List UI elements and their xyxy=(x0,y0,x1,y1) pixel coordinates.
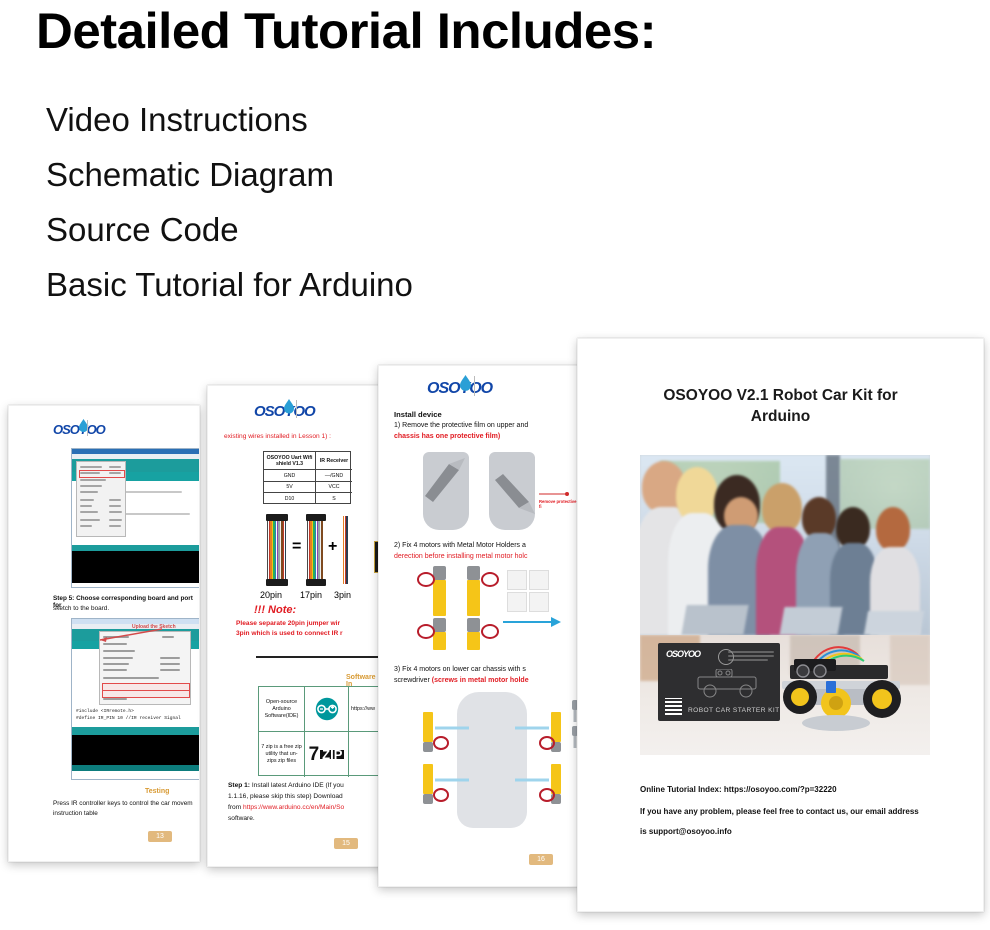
highlight-open-item xyxy=(79,470,125,478)
equals-sign: = xyxy=(292,538,301,556)
cover-title: OSOYOO V2.1 Robot Car Kit for Arduino xyxy=(602,385,959,427)
note-title: !!! Note: xyxy=(254,604,296,616)
install-step-1-note: chassis has one protective film) xyxy=(394,433,500,440)
table-cell: GND xyxy=(264,470,316,482)
motor-holder-thumb xyxy=(529,570,549,590)
cable-label-3pin: 3pin xyxy=(334,590,351,600)
callout-label: Remove protective fi xyxy=(539,499,579,509)
laptop xyxy=(780,607,843,635)
highlight-port-item xyxy=(102,690,190,698)
tutorial-cover-page[interactable]: OSOYOO V2.1 Robot Car Kit for Arduino xyxy=(577,338,984,912)
table-header-receiver: IR Receiver xyxy=(316,452,352,470)
screwdriver-word: screwdriver xyxy=(394,677,432,684)
step-1-line-4: software. xyxy=(228,815,255,822)
table-cell: —/GND xyxy=(316,470,352,482)
arduino-logo-icon xyxy=(310,697,344,721)
osoyoo-droplet-icon xyxy=(460,375,471,391)
cable-header xyxy=(266,579,288,586)
step-1-label: Step 1: xyxy=(228,782,250,789)
cable-20pin xyxy=(266,514,288,586)
product-photo: OSOYOO ROBOT CAR STARTER KIT xyxy=(640,635,930,755)
osoyoo-droplet-icon xyxy=(284,399,294,414)
step-1-text: Install latest Arduino IDE (If you xyxy=(250,782,344,789)
contact-is-label: is xyxy=(640,827,649,836)
code-line-1: #include <IRremote.h> xyxy=(76,709,134,714)
motor-holder-thumb xyxy=(507,570,527,590)
software-table: Open-source Arduino Software(IDE) https:… xyxy=(258,686,384,776)
logo-divider xyxy=(296,400,297,418)
robot-car xyxy=(770,641,920,741)
peel-film-icon xyxy=(485,452,545,530)
cable-17pin xyxy=(306,514,326,586)
table-cell: S xyxy=(316,493,352,504)
product-box: OSOYOO ROBOT CAR STARTER KIT xyxy=(658,643,780,721)
note-line-2: 3pin which is used to connect IR r xyxy=(236,630,343,637)
table-cell: D10 xyxy=(264,493,316,504)
install-step-3-note: screwdriver (screws in metal motor holde xyxy=(394,677,529,684)
motors-figure xyxy=(413,566,579,650)
arduino-ide-screenshot-file-menu xyxy=(71,448,200,588)
install-step-2-note: derection before installing metal motor … xyxy=(394,553,527,560)
motor-holder-thumb xyxy=(529,592,549,612)
screw-guides-icon xyxy=(407,692,580,832)
tutorial-page-wiring[interactable]: OSOYOO existing wires installed in Lesso… xyxy=(207,385,384,867)
upload-annotation: Upload the Sketch xyxy=(132,624,176,630)
7zip-logo-icon: 7 ZIP xyxy=(309,745,345,764)
tutorial-page-arduino-ide[interactable]: OSOYOO xyxy=(8,405,200,862)
document-stack: OSOYOO xyxy=(0,0,990,930)
ide-statusbar-2 xyxy=(72,727,200,735)
classroom-photo xyxy=(640,455,930,635)
support-email-link[interactable]: support@osoyoo.info xyxy=(649,827,732,836)
step-1-from: from xyxy=(228,804,243,811)
cable-label-17pin: 17pin xyxy=(300,590,322,600)
ide-console-2 xyxy=(72,735,200,765)
step-5-continued: sketch to the board. xyxy=(53,605,109,612)
person-head xyxy=(762,483,802,533)
step-1-line: Step 1: Install latest Arduino IDE (If y… xyxy=(228,782,344,789)
testing-line-2: instruction table xyxy=(53,810,98,817)
tutorial-page-install-device[interactable]: OSOYOO Install device 1) Remove the prot… xyxy=(378,365,580,887)
robot-car-illustration xyxy=(770,641,920,741)
box-logo: OSOYOO xyxy=(666,649,700,659)
testing-heading: Testing xyxy=(145,788,169,795)
software-icon-cell-7zip: 7 ZIP xyxy=(305,732,349,777)
cable-header xyxy=(306,579,326,586)
table-header-shield: OSOYOO Uart Wifi shield V1.3 xyxy=(264,452,316,470)
page-number-badge: 13 xyxy=(148,831,172,842)
contact-line: If you have any problem, please feel fre… xyxy=(640,807,919,816)
online-tutorial-label: Online Tutorial Index: xyxy=(640,785,724,794)
page-number-badge: 16 xyxy=(529,854,553,865)
page-number-badge: 15 xyxy=(334,838,358,849)
product-box-caption: ROBOT CAR STARTER KIT xyxy=(688,707,780,714)
cable-3pin xyxy=(342,514,349,586)
online-tutorial-line: Online Tutorial Index: https://osoyoo.co… xyxy=(640,785,837,794)
pin-mapping-table: OSOYOO Uart Wifi shield V1.3 IR Receiver… xyxy=(263,451,351,504)
testing-line-1: Press IR controller keys to control the … xyxy=(53,800,193,807)
laptop xyxy=(681,605,748,635)
logo-divider xyxy=(87,420,88,436)
ide-statusbar xyxy=(72,545,200,551)
person-head xyxy=(876,507,910,551)
install-step-2: 2) Fix 4 motors with Metal Motor Holders… xyxy=(394,542,526,549)
table-cell: 5V xyxy=(264,482,316,493)
cover-title-line-2: Arduino xyxy=(602,406,959,427)
arduino-download-link[interactable]: https://www.arduino.cc/en/Main/So xyxy=(243,804,344,811)
cable-header xyxy=(266,514,288,521)
car-line-art-icon xyxy=(684,669,774,699)
cable-wires xyxy=(343,516,348,584)
box-logo-text: OSOYOO xyxy=(666,649,700,659)
install-device-title: Install device xyxy=(394,410,442,419)
contact-email-line: is support@osoyoo.info xyxy=(640,827,732,836)
ide-console xyxy=(72,551,200,583)
note-line-1: Please separate 20pin jumper wir xyxy=(236,620,340,627)
assembly-arrow-icon xyxy=(503,616,563,628)
qr-code xyxy=(665,698,682,715)
software-icon-cell-arduino xyxy=(305,687,349,732)
cable-header xyxy=(306,514,326,521)
intro-line: existing wires installed in Lesson 1) : xyxy=(224,433,331,440)
ide-file-dropdown[interactable] xyxy=(76,461,126,537)
install-step-1: 1) Remove the protective film on upper a… xyxy=(394,422,528,429)
motor-holder-thumb xyxy=(507,592,527,612)
lower-chassis-figure xyxy=(407,692,580,832)
cable-label-20pin: 20pin xyxy=(260,590,282,600)
logo-divider xyxy=(474,376,475,396)
step-1-line-3: from https://www.arduino.cc/en/Main/So xyxy=(228,804,344,811)
cable-wires xyxy=(267,521,287,579)
table-cell: VCC xyxy=(316,482,352,493)
chassis-figure-left xyxy=(419,452,473,530)
online-tutorial-link[interactable]: https://osoyoo.com/?p=32220 xyxy=(724,785,837,794)
step-1-line-2: 1.1.16, please skip this step) Download xyxy=(228,793,343,800)
software-desc-7zip: 7 zip is a free zip utility that un-zips… xyxy=(259,732,305,777)
cover-title-line-1: OSOYOO V2.1 Robot Car Kit for xyxy=(602,385,959,406)
code-line-2: #define IR_PIN 10 //IR receiver Signal xyxy=(76,716,181,721)
chassis-figure-right xyxy=(485,452,539,530)
peel-film-icon xyxy=(419,452,473,530)
section-divider xyxy=(256,656,384,658)
software-desc-arduino: Open-source Arduino Software(IDE) xyxy=(259,687,305,732)
install-step-3: 3) Fix 4 motors on lower car chassis wit… xyxy=(394,666,526,673)
cable-wires xyxy=(307,521,325,579)
laptop xyxy=(864,611,924,635)
arduino-ide-screenshot-tools-menu: Upload the Sketch #include <IRremote.h> … xyxy=(71,618,200,780)
plus-sign: + xyxy=(328,538,337,556)
screws-note: (screws in metal motor holde xyxy=(432,677,529,684)
ide-footer-2 xyxy=(72,765,200,771)
callout-arrow-icon xyxy=(539,490,571,498)
